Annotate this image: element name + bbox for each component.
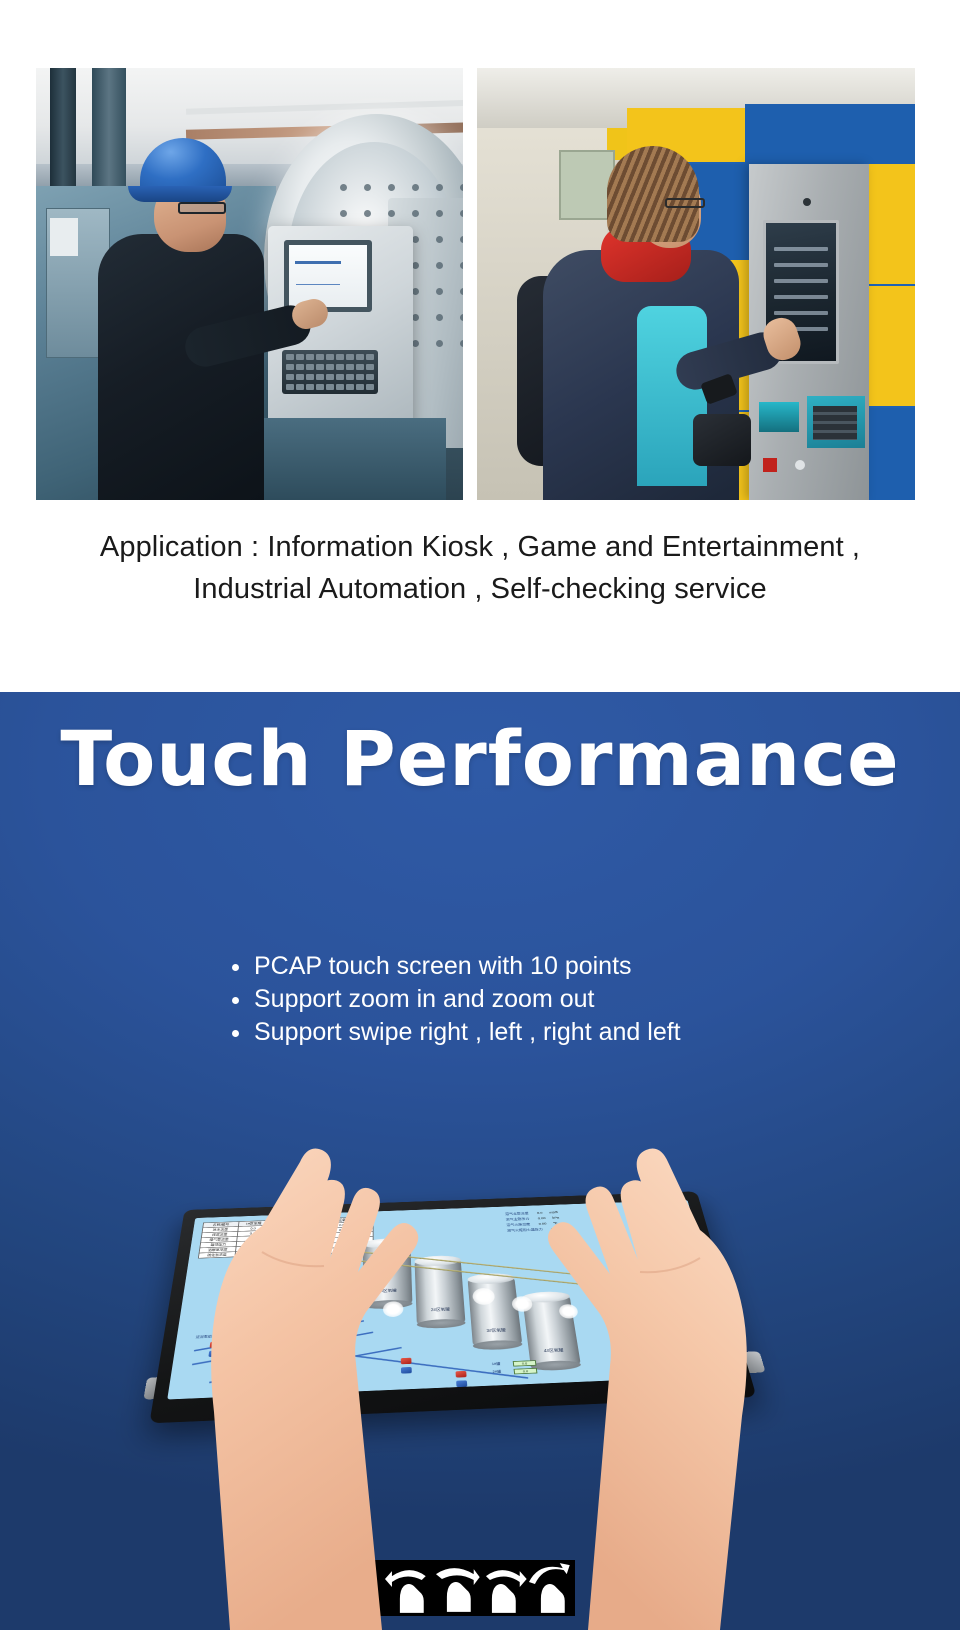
- tank-label: 3#区氧罐: [472, 1327, 521, 1334]
- table-cell: 0.0: [296, 1248, 326, 1254]
- list-item: Support swipe right , left , right and l…: [228, 1016, 698, 1049]
- application-caption-line-1: Application : Information Kiosk , Game a…: [0, 526, 960, 568]
- scada-note: 进泥泵组: [195, 1334, 212, 1339]
- tap-down-icon: [289, 1560, 337, 1616]
- readout-unit: kPa: [552, 1216, 559, 1219]
- readout-unit: ℃: [553, 1222, 558, 1225]
- touch-performance-section: Touch Performance: [0, 692, 960, 1630]
- application-section: Application : Information Kiosk , Game a…: [0, 0, 960, 692]
- scada-data-table: 名称/编号1#区氧罐2#区氧罐3#区氧罐4#区氧罐单位进水流量0.00.00.0…: [198, 1216, 374, 1259]
- readout-unit: KPa: [566, 1227, 574, 1230]
- touch-point: [318, 1344, 344, 1365]
- flare-stack: [673, 1216, 708, 1335]
- gesture-icon-strip: [289, 1560, 575, 1616]
- application-caption: Application : Information Kiosk , Game a…: [0, 526, 960, 610]
- scada-readout-panel: 沼气主管流量0.0m3/h沼气主管压力0.00kPa沼气火炬温度0.00℃沼气火…: [505, 1207, 637, 1234]
- readout-label: 沼气火炬阻火器压力: [507, 1228, 543, 1232]
- table-cell: 0.0: [265, 1250, 296, 1256]
- scada-note: 1#沼气加压风机: [589, 1277, 617, 1282]
- tank-label: 4#区氧罐: [529, 1347, 579, 1354]
- readout-value: 0.0: [514, 1368, 538, 1374]
- table-cell: 0.0: [235, 1251, 266, 1257]
- tank-3: 3#区氧罐: [468, 1277, 523, 1346]
- rotate-icon: [527, 1560, 575, 1616]
- touch-tablet-demo: 名称/编号1#区氧罐2#区氧罐3#区氧罐4#区氧罐单位进水流量0.00.00.0…: [112, 1110, 852, 1430]
- readout-value: 0.00: [551, 1227, 559, 1230]
- tank-label: 2#区氧罐: [416, 1306, 464, 1313]
- swipe-left-icon: [384, 1560, 432, 1616]
- page-title: Touch Performance: [0, 714, 960, 803]
- swipe-up-icon: [337, 1560, 385, 1616]
- readout-value: 0.00: [538, 1222, 546, 1225]
- table-row-label: 硫化氢浓度: [198, 1252, 235, 1259]
- touch-feature-list: PCAP touch screen with 10 points Support…: [0, 950, 960, 1049]
- scada-note: 排泥泵组: [285, 1384, 302, 1389]
- readout-value: 0.00: [538, 1217, 546, 1220]
- readout-label: 沼气主管压力: [506, 1217, 530, 1221]
- scada-screen[interactable]: 名称/编号1#区氧罐2#区氧罐3#区氧罐4#区氧罐单位进水流量0.00.00.0…: [167, 1200, 736, 1400]
- swipe-right-icon: [480, 1560, 528, 1616]
- tablet-bezel: 名称/编号1#区氧罐2#区氧罐3#区氧罐4#区氧罐单位进水流量0.00.00.0…: [149, 1191, 756, 1423]
- tank-label: 1#区氧罐: [363, 1288, 412, 1295]
- list-item: PCAP touch screen with 10 points: [228, 950, 698, 983]
- readout-value: 0.0: [513, 1360, 537, 1366]
- application-photo-row: [0, 68, 960, 500]
- readout-label: 1#罐: [492, 1362, 501, 1367]
- flare-flame-icon: [664, 1205, 683, 1221]
- pinch-icon: [432, 1560, 480, 1616]
- scada-note: 沼气火炬: [651, 1341, 668, 1346]
- readout-label: 沼气火炬温度: [506, 1223, 530, 1227]
- readout-label: 沼气主管流量: [505, 1212, 529, 1216]
- touch-point: [383, 1301, 404, 1317]
- industrial-automation-photo: [36, 68, 463, 500]
- scada-note: EAO反应器: [569, 1249, 588, 1254]
- information-kiosk-photo: [477, 68, 915, 500]
- readout-unit: m3/h: [549, 1211, 558, 1214]
- readout-value: 0.0: [537, 1211, 543, 1214]
- readout-label: 2#罐: [492, 1369, 501, 1374]
- application-caption-line-2: Industrial Automation , Self-checking se…: [0, 568, 960, 610]
- list-item: Support zoom in and zoom out: [228, 983, 698, 1016]
